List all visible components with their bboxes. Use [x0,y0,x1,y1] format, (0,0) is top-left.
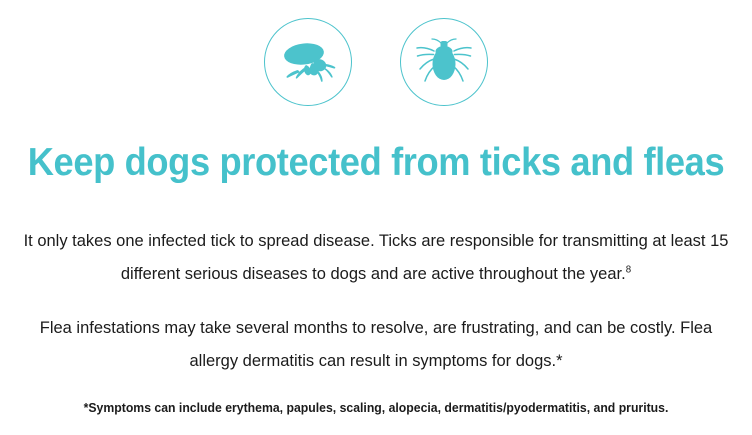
promo-panel: Keep dogs protected from ticks and fleas… [0,0,752,435]
tick-icon [415,36,473,88]
footnote-symptoms: *Symptoms can include erythema, papules,… [8,399,745,417]
flea-icon [280,35,336,89]
paragraph-fleas-text: Flea infestations may take several month… [11,311,740,377]
page-title: Keep dogs protected from ticks and fleas [26,140,725,186]
tick-icon-circle [400,18,488,106]
paragraph-fleas: Flea infestations may take several month… [0,311,752,377]
footnote-reference-8: 8 [626,264,631,275]
paragraph-ticks-body: It only takes one infected tick to sprea… [24,231,729,283]
flea-icon-circle [264,18,352,106]
paragraph-ticks: It only takes one infected tick to sprea… [0,224,752,290]
icon-row [0,18,752,106]
paragraph-ticks-text: It only takes one infected tick to sprea… [11,224,740,290]
